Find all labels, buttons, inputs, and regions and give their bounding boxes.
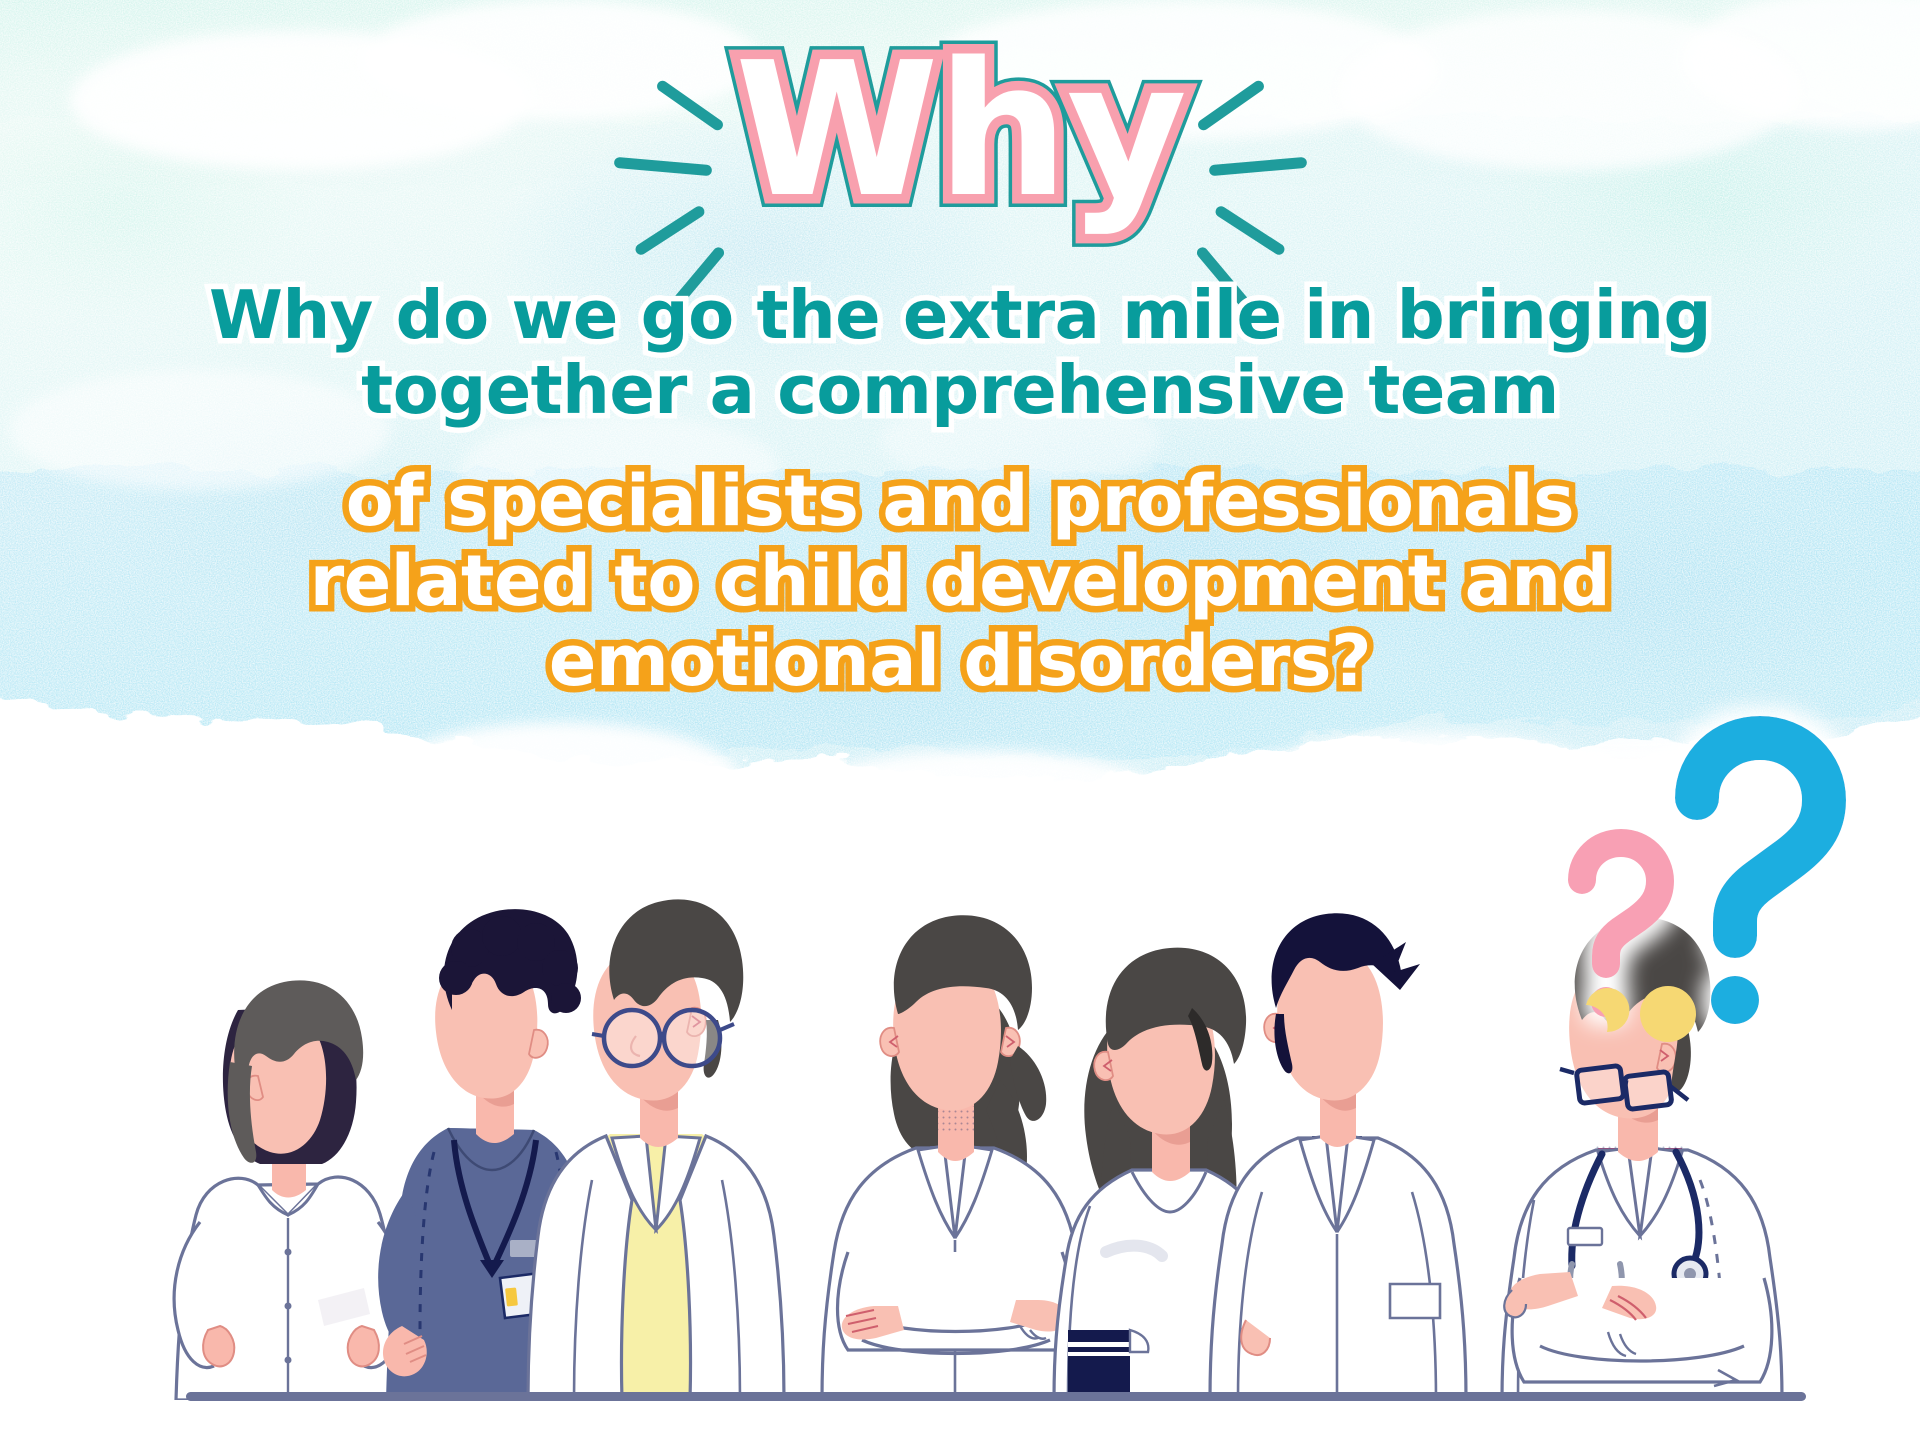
person-4-doctor-female — [822, 915, 1088, 1400]
orange-headline-line: related to child development and related… — [60, 542, 1860, 622]
teal-headline-line-text: Why do we go the extra mile in bringing — [209, 276, 1711, 354]
orange-headline-line: emotional disorders? emotional disorders… — [60, 622, 1860, 702]
teal-headline-line: together a comprehensive team together a… — [60, 353, 1860, 428]
person-1-nurse-female — [174, 980, 404, 1400]
person-7-doctor-stethoscope — [1502, 911, 1782, 1400]
slide-root: Why Why Why Why do we go the extra mile … — [0, 0, 1920, 1433]
orange-headline: of specialists and professionals of spec… — [60, 462, 1860, 701]
orange-headline-line-text: of specialists and professionals — [346, 460, 1574, 542]
orange-headline-line-text: related to child development and — [310, 540, 1611, 622]
teal-headline-line-text: together a comprehensive team — [361, 351, 1559, 429]
ground-line — [186, 1392, 1806, 1401]
page-title-fill: Why — [735, 22, 1185, 238]
page-title: Why Why Why — [0, 38, 1920, 223]
teal-headline: Why do we go the extra mile in bringing … — [60, 278, 1860, 428]
person-6-doctor-male — [1210, 913, 1466, 1400]
teal-headline-line: Why do we go the extra mile in bringing … — [60, 278, 1860, 353]
orange-headline-line-text: emotional disorders? — [549, 620, 1371, 702]
orange-headline-line: of specialists and professionals of spec… — [60, 462, 1860, 542]
